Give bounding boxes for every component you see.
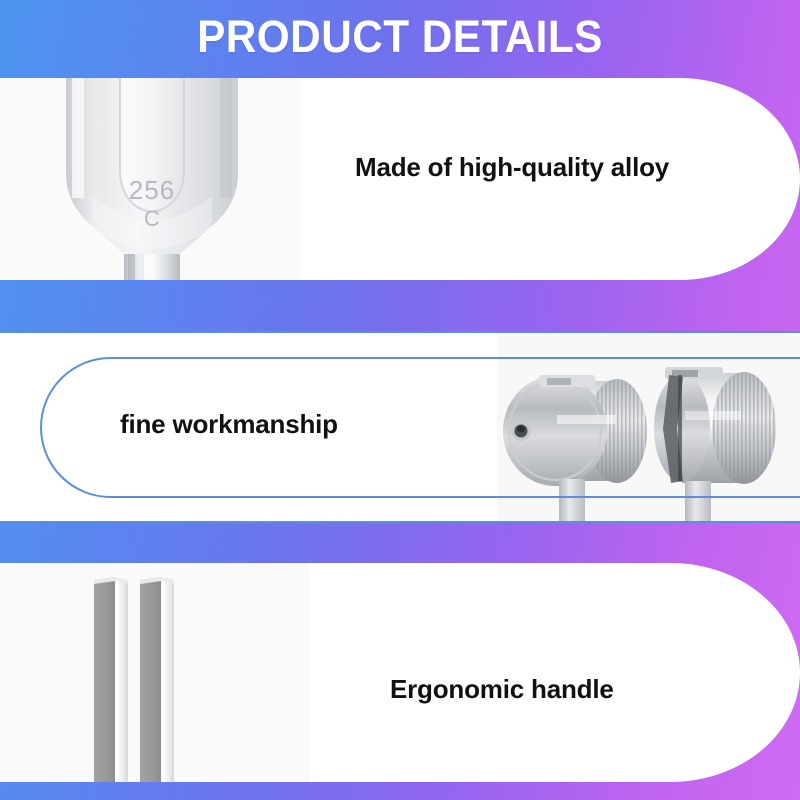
tuning-fork-head-image: 256 C <box>58 78 248 280</box>
tuning-fork-weights-image <box>497 333 800 521</box>
feature-label-handle: Ergonomic handle <box>390 674 614 705</box>
svg-text:256: 256 <box>129 175 175 205</box>
feature-label-workmanship: fine workmanship <box>120 409 338 440</box>
header-banner: PRODUCT DETAILS <box>0 0 800 78</box>
product-details-infographic: PRODUCT DETAILS <box>0 0 800 800</box>
page-title: PRODUCT DETAILS <box>24 11 776 63</box>
feature-panel-alloy: 256 C Made of high-quality alloy <box>0 78 800 280</box>
tuning-fork-tines-image <box>70 563 205 782</box>
svg-text:C: C <box>144 206 160 231</box>
feature-label-alloy: Made of high-quality alloy <box>355 152 669 183</box>
feature-panel-workmanship: fine workmanship <box>0 331 800 523</box>
feature-panel-handle: Ergonomic handle <box>0 563 800 782</box>
